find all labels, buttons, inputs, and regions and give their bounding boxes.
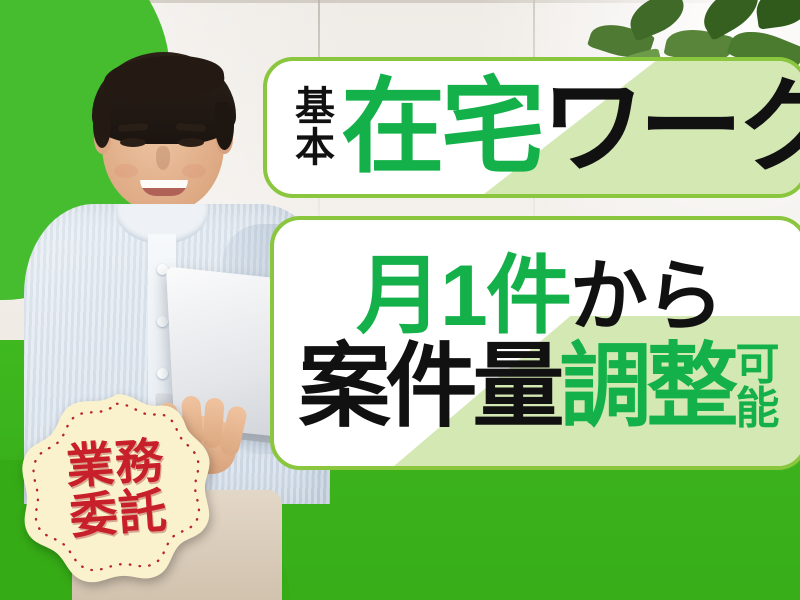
headline-prefix-char: 本 <box>295 128 335 169</box>
headline-rest-work: ワーク <box>541 76 800 180</box>
headline-rest-kara: から <box>570 257 722 335</box>
headline-small-possible: 可 能 <box>736 343 780 431</box>
headline-box-primary: 基 本 在宅 ワーク <box>263 57 800 198</box>
headline-small-possible-char: 能 <box>736 387 780 431</box>
headline-black-volume: 案件量 <box>298 341 559 433</box>
ad-banner: 基 本 在宅 ワーク 月1件 から 案件量 調整 可 能 業務 <box>0 0 800 600</box>
headline-prefix-char: 基 <box>295 87 335 128</box>
badge-text-line-2: 委託 <box>68 487 169 544</box>
headline-small-possible-char: 可 <box>736 343 780 387</box>
headline-highlight-zaitaku: 在宅 <box>341 76 541 180</box>
headline-line-3: 案件量 調整 可 能 <box>274 341 800 433</box>
headline-highlight-monthly: 月1件 <box>356 253 570 339</box>
headline-line-2: 月1件 から <box>274 253 800 339</box>
headline-box-secondary: 月1件 から 案件量 調整 可 能 <box>270 216 800 470</box>
headline-line-1: 基 本 在宅 ワーク <box>267 76 800 180</box>
badge-text: 業務 委託 <box>11 385 222 594</box>
headline-highlight-adjust: 調整 <box>560 341 734 433</box>
contract-type-badge: 業務 委託 <box>18 392 216 588</box>
headline-prefix: 基 本 <box>295 87 335 169</box>
